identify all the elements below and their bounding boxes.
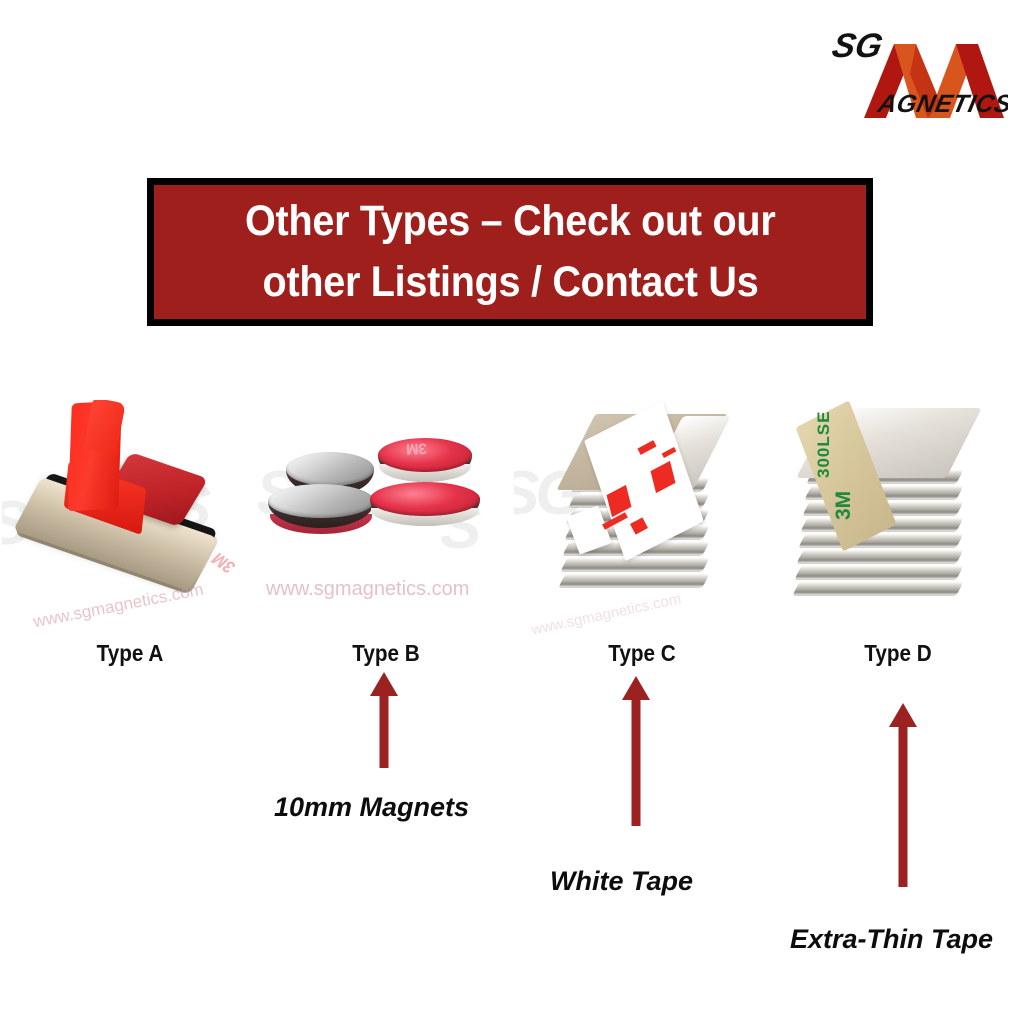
arrow-to-type-b <box>368 672 400 768</box>
product-cell-type-a: SG S 3M www.sgmagnetics.com <box>2 400 258 650</box>
arrow-to-type-d <box>887 703 919 887</box>
svg-text:SG: SG <box>829 27 886 65</box>
arrow-to-type-c <box>620 676 652 826</box>
product-label-type-b: Type B <box>271 640 501 667</box>
product-infographic-page: SG AGNETICS Other Types – Check out our … <box>0 0 1024 1024</box>
annotation-10mm-magnets: 10mm Magnets <box>274 792 469 823</box>
tape-brand-text: 3M <box>832 491 856 520</box>
product-cell-type-b: SG S 3M www.sgmagnet <box>258 400 514 650</box>
annotation-extra-thin-tape: Extra-Thin Tape <box>790 924 993 955</box>
tape-brand-text: 3M <box>207 548 240 576</box>
product-photo-type-d: SG 3M 300LSE <box>770 400 1024 650</box>
disc-magnet-red <box>370 482 480 556</box>
product-label-type-d: Type D <box>783 640 1013 667</box>
tape-brand-text: 3M <box>406 440 427 458</box>
logo-text-agnetics: AGNETICS <box>875 90 1008 118</box>
brand-logo: SG AGNETICS <box>828 22 1008 118</box>
product-photo-type-b: SG S 3M www.sgmagnet <box>258 400 514 650</box>
title-banner-inner: Other Types – Check out our other Listin… <box>154 185 866 319</box>
product-photo-row: SG S 3M www.sgmagnetics.com SG S <box>0 400 1024 650</box>
product-photo-type-c: SG S <box>514 400 770 650</box>
product-cell-type-d: SG 3M 300LSE <box>770 400 1024 650</box>
banner-line-2: other Listings / Contact Us <box>262 252 758 313</box>
watermark-url: www.sgmagnetics.com <box>32 580 206 633</box>
banner-line-1: Other Types – Check out our <box>245 191 775 252</box>
annotation-white-tape: White Tape <box>550 866 693 897</box>
product-cell-type-c: SG S <box>514 400 770 650</box>
product-label-type-c: Type C <box>527 640 757 667</box>
product-label-type-a: Type A <box>15 640 245 667</box>
disc-magnet-silver <box>268 484 374 556</box>
magnet-stack: 3M 300LSE <box>770 400 1024 650</box>
product-photo-type-a: SG S 3M www.sgmagnetics.com <box>2 400 258 650</box>
tape-grade-text: 300LSE <box>814 411 834 478</box>
title-banner: Other Types – Check out our other Listin… <box>147 178 873 326</box>
watermark-url: www.sgmagnetics.com <box>266 578 469 601</box>
sg-magnetics-logo-mark: SG AGNETICS <box>828 22 1008 118</box>
svg-text:AGNETICS: AGNETICS <box>875 90 1008 118</box>
logo-text-sg: SG <box>829 27 886 65</box>
